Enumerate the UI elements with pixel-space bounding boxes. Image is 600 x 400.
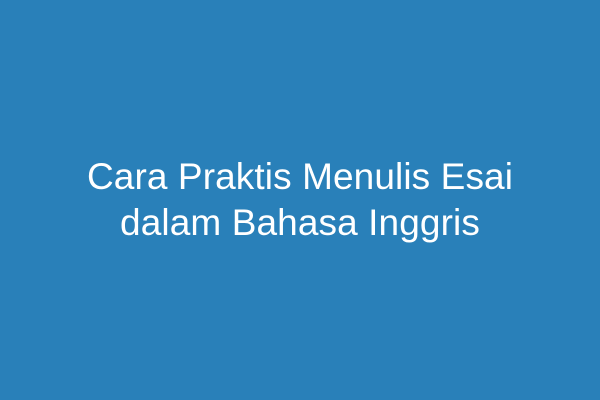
page-title: Cara Praktis Menulis Esai dalam Bahasa I… <box>50 154 550 246</box>
title-card-content: Cara Praktis Menulis Esai dalam Bahasa I… <box>50 154 550 246</box>
title-card: Cara Praktis Menulis Esai dalam Bahasa I… <box>0 0 600 400</box>
